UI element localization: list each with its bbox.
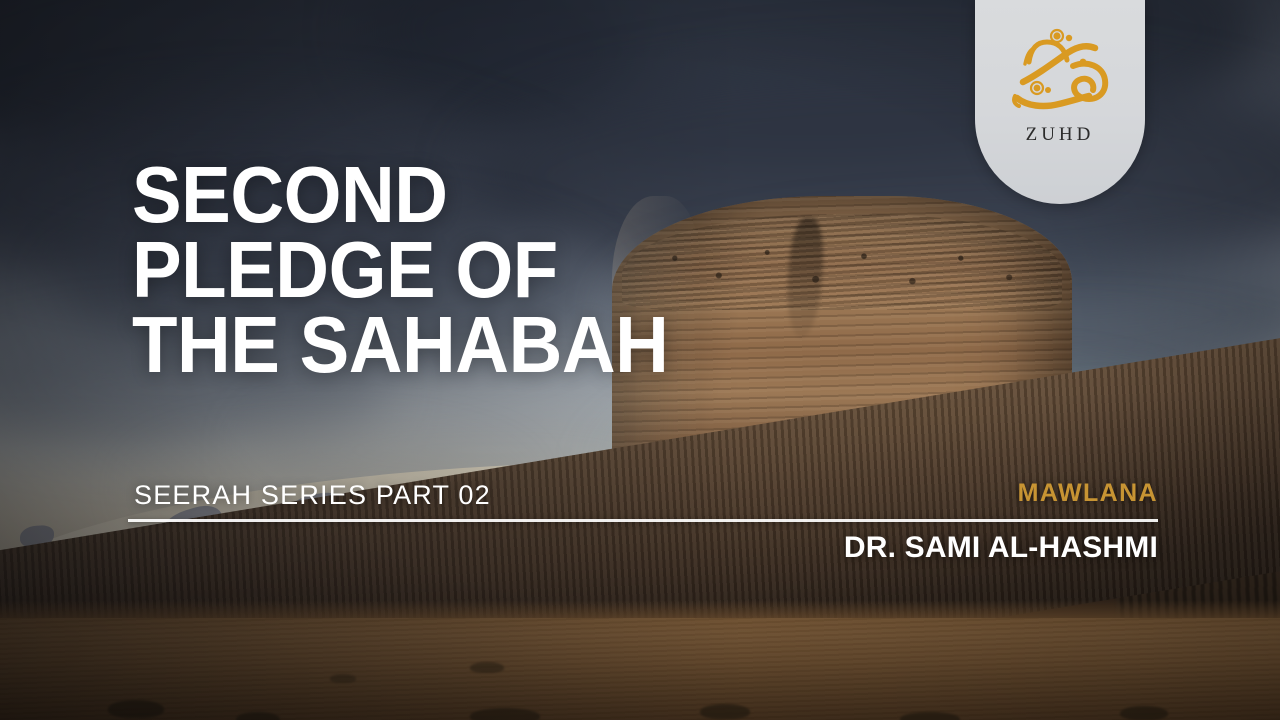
desert-shrub xyxy=(900,712,960,720)
desert-shrub xyxy=(108,700,164,718)
presenter-role: MAWLANA xyxy=(1018,481,1158,506)
sand-floor xyxy=(0,618,1280,720)
desert-shrub xyxy=(236,712,280,720)
desert-shrub xyxy=(1120,706,1168,720)
title-card-slide: ZUHD SECOND PLEDGE OF THE SAHABAH SEERAH… xyxy=(0,0,1280,720)
title-line-3: THE SAHABAH xyxy=(132,308,727,383)
title-line-1: SECOND xyxy=(132,158,727,233)
presenter-name: DR. SAMI AL-HASHMI xyxy=(844,531,1158,565)
series-subtitle: SEERAH SERIES PART 02 xyxy=(134,480,491,511)
desert-shrub xyxy=(470,662,504,673)
desert-shrub xyxy=(700,704,750,719)
presenter-block: MAWLANA xyxy=(1018,481,1158,506)
divider-rule xyxy=(128,519,1158,522)
desert-shrub xyxy=(330,674,356,683)
zuhd-logo-badge[interactable]: ZUHD xyxy=(975,0,1145,204)
desert-shrub xyxy=(470,708,540,720)
arabic-calligraphy-zuhd-mark xyxy=(1001,26,1119,122)
title-line-2: PLEDGE OF xyxy=(132,233,727,308)
zuhd-wordmark: ZUHD xyxy=(1026,124,1095,146)
page-title: SECOND PLEDGE OF THE SAHABAH xyxy=(132,158,727,382)
